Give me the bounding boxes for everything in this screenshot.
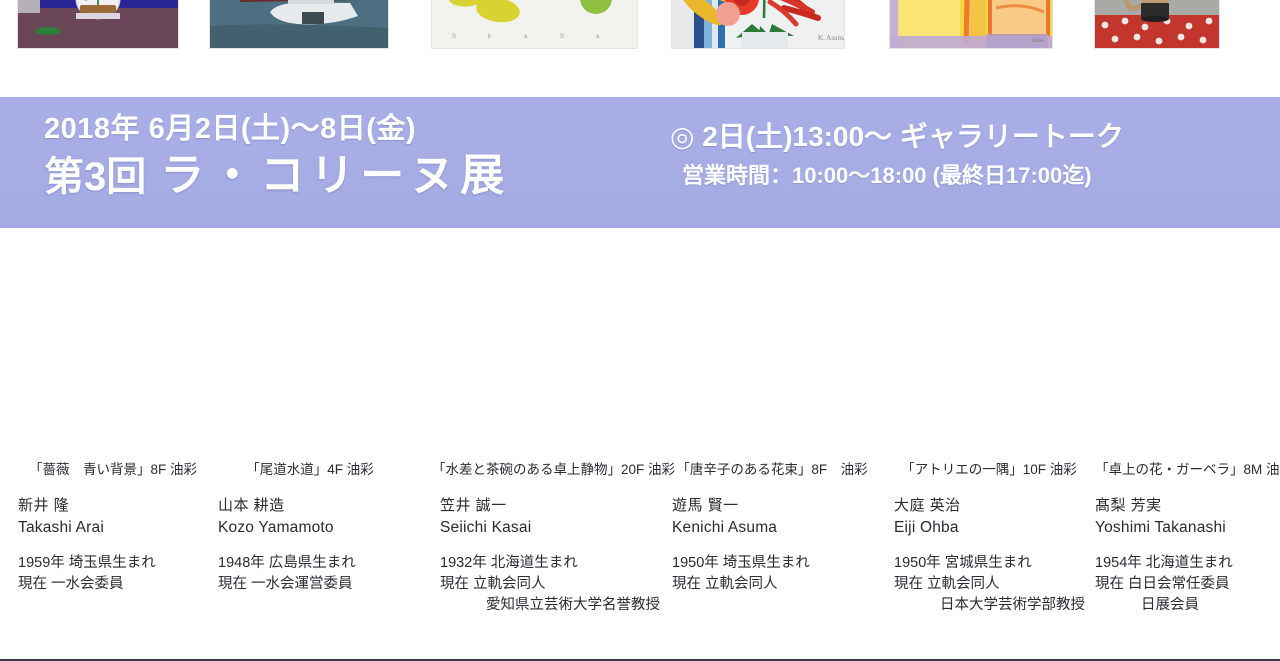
artist-bio-1: 新井 隆 Takashi Arai 1959年 埼玉県生まれ 現在 一水会委員 — [18, 495, 156, 595]
artwork-caption-1: 「薔薇 青い背景」8F 油彩 — [18, 462, 208, 478]
chili-pepper-bouquet-painting: K. Asuma — [672, 0, 844, 48]
artwork-frame-2 — [210, 0, 388, 48]
artwork-frame-6 — [1095, 0, 1219, 48]
artist-name-en-3: Seiichi Kasai — [440, 517, 660, 539]
artist-name-jp-4: 遊馬 賢一 — [672, 495, 810, 517]
artist-name-en-1: Takashi Arai — [18, 517, 156, 539]
artist-name-en-2: Kozo Yamamoto — [218, 517, 356, 539]
artist-position-5: 日本大学芸術学部教授 — [894, 595, 1085, 616]
artist-birth-6: 1954年 北海道生まれ — [1095, 553, 1233, 574]
event-dates: 2018年 6月2日(土)～8日(金) — [44, 111, 510, 147]
artwork-caption-5: 「アトリエの一隅」10F 油彩 — [890, 462, 1088, 478]
banner-right-block: ◎ 2日(土)13:00～ ギャラリートーク 営業時間：10:00～18:00 … — [670, 119, 1124, 191]
gerbera-pitcher-painting — [1095, 0, 1219, 48]
artist-name-jp-6: 髙梨 芳実 — [1095, 495, 1233, 517]
artist-birth-2: 1948年 広島県生まれ — [218, 553, 356, 574]
event-edition: 第3回 — [44, 155, 146, 199]
artist-name-jp-3: 笠井 誠一 — [440, 495, 660, 517]
svg-text:K. Asuma: K. Asuma — [818, 34, 844, 42]
artist-birth-3: 1932年 北海道生まれ — [440, 553, 660, 574]
watering-can-still-life-painting: HoE Ska Sa — [432, 0, 637, 48]
svg-text:ohba: ohba — [1032, 38, 1044, 44]
artist-birth-4: 1950年 埼玉県生まれ — [672, 553, 810, 574]
gallery-talk-info: ◎ 2日(土)13:00～ ギャラリートーク — [670, 119, 1124, 155]
artwork-caption-3: 「水差と茶碗のある卓上静物」20F 油彩 — [432, 462, 644, 478]
artist-bio-6: 髙梨 芳実 Yoshimi Takanashi 1954年 北海道生まれ 現在 … — [1095, 495, 1233, 616]
svg-text:S: S — [452, 34, 456, 40]
onomichi-channel-ship-painting — [210, 0, 388, 48]
roses-blue-background-painting — [18, 0, 178, 48]
artwork-caption-6: 「卓上の花・ガーベラ」8M 油彩 — [1095, 462, 1280, 478]
artist-affiliation-4: 現在 立軌会同人 — [672, 574, 810, 595]
artist-name-jp-1: 新井 隆 — [18, 495, 156, 517]
svg-text:S: S — [560, 34, 564, 40]
artist-name-jp-5: 大庭 英治 — [894, 495, 1085, 517]
artwork-frame-1 — [18, 0, 178, 48]
artist-bio-2: 山本 耕造 Kozo Yamamoto 1948年 広島県生まれ 現在 一水会運… — [218, 495, 356, 595]
artwork-caption-4: 「唐辛子のある花束」8F 油彩 — [672, 462, 872, 478]
event-banner: 2018年 6月2日(土)～8日(金) 第3回ラ・コリーヌ展 ◎ 2日(土)13… — [0, 97, 1280, 228]
artist-affiliation-6: 現在 白日会常任委員 — [1095, 574, 1233, 595]
artist-name-en-4: Kenichi Asuma — [672, 517, 810, 539]
event-title-line: 第3回ラ・コリーヌ展 — [44, 149, 510, 203]
artist-position-6: 日展会員 — [1095, 595, 1233, 616]
artist-name-en-5: Eiji Ohba — [894, 517, 1085, 539]
artist-bio-4: 遊馬 賢一 Kenichi Asuma 1950年 埼玉県生まれ 現在 立軌会同… — [672, 495, 810, 595]
artist-bio-3: 笠井 誠一 Seiichi Kasai 1932年 北海道生まれ 現在 立軌会同… — [440, 495, 660, 616]
artist-position-3: 愛知県立芸術大学名誉教授 — [440, 595, 660, 616]
artist-bio-5: 大庭 英治 Eiji Ohba 1950年 宮城県生まれ 現在 立軌会同人 日本… — [894, 495, 1085, 616]
artist-birth-5: 1950年 宮城県生まれ — [894, 553, 1085, 574]
artist-affiliation-3: 現在 立軌会同人 — [440, 574, 660, 595]
banner-left-block: 2018年 6月2日(土)～8日(金) 第3回ラ・コリーヌ展 — [44, 111, 510, 203]
atelier-corner-abstract-painting: ohba — [890, 0, 1052, 48]
artist-birth-1: 1959年 埼玉県生まれ — [18, 553, 156, 574]
artist-affiliation-2: 現在 一水会運営委員 — [218, 574, 356, 595]
artist-name-en-6: Yoshimi Takanashi — [1095, 517, 1233, 539]
artwork-caption-2: 「尾道水道」4F 油彩 — [210, 462, 410, 478]
artwork-frame-4: K. Asuma — [672, 0, 844, 48]
business-hours-info: 営業時間：10:00～18:00 (最終日17:00迄) — [682, 161, 1124, 191]
artwork-frame-3: HoE Ska Sa — [432, 0, 637, 48]
artwork-frame-5: ohba — [890, 0, 1052, 48]
event-title: ラ・コリーヌ展 — [160, 151, 510, 200]
artist-affiliation-1: 現在 一水会委員 — [18, 574, 156, 595]
artist-name-jp-2: 山本 耕造 — [218, 495, 356, 517]
artist-affiliation-5: 現在 立軌会同人 — [894, 574, 1085, 595]
artist-gallery: 「薔薇 青い背景」8F 油彩 新井 隆 Takashi Arai 1959年 埼… — [0, 250, 1280, 661]
